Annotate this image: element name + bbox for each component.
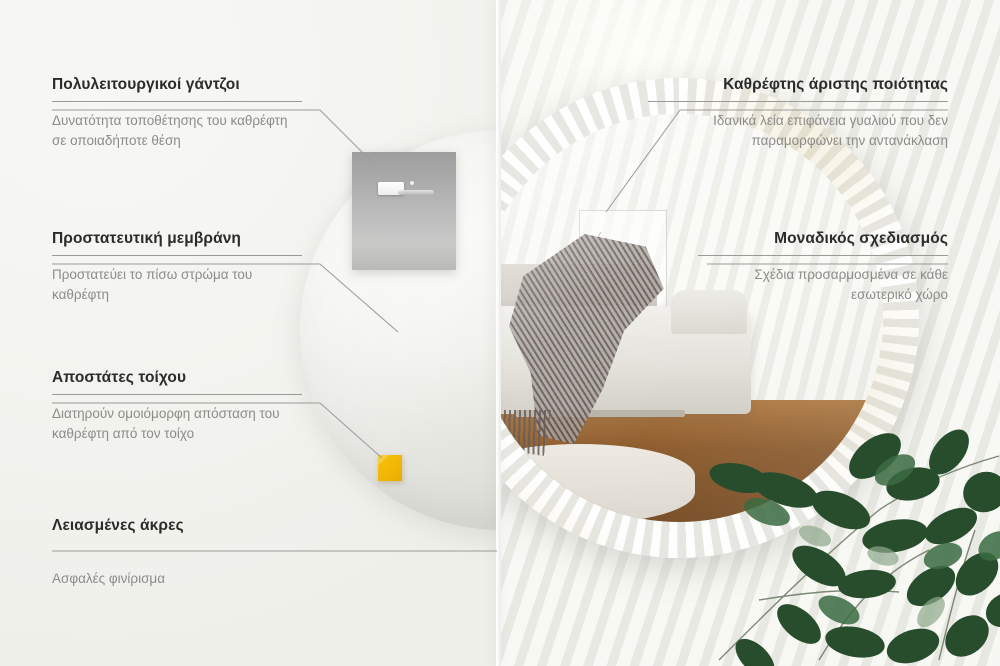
callout-quality-title: Καθρέφτης άριστης ποιότητας xyxy=(648,76,948,94)
callout-quality-rule xyxy=(648,101,948,102)
callout-design: Μοναδικός σχεδιασμός Σχέδια προσαρμοσμέν… xyxy=(698,230,948,305)
callout-membrane-title: Προστατευτική μεμβράνη xyxy=(52,230,302,248)
callout-spacers: Αποστάτες τοίχου Διατηρούν ομοιόμορφη απ… xyxy=(52,369,302,444)
callout-design-rule xyxy=(698,255,948,256)
hook-screw-icon xyxy=(410,181,414,185)
callout-edges-desc: Ασφαλές φινίρισμα xyxy=(52,569,352,589)
callout-hooks: Πολυλειτουργικοί γάντζοι Δυνατότητα τοπο… xyxy=(52,76,302,151)
callout-spacers-title: Αποστάτες τοίχου xyxy=(52,369,302,387)
panel-divider xyxy=(496,0,501,666)
callout-membrane-rule xyxy=(52,255,302,256)
callout-spacers-rule xyxy=(52,394,302,395)
callout-design-desc: Σχέδια προσαρμοσμένα σε κάθε εσωτερικό χ… xyxy=(698,265,948,305)
callout-membrane: Προστατευτική μεμβράνη Προστατεύει το πί… xyxy=(52,230,302,305)
callout-edges-title: Λειασμένες άκρες xyxy=(52,517,352,535)
wall-spacer-chip xyxy=(378,455,402,481)
hook-icon xyxy=(378,178,434,198)
foliage-branch xyxy=(699,360,1000,666)
callout-quality-desc: Ιδανικά λεία επιφάνεια γυαλιού που δεν π… xyxy=(648,111,948,151)
infographic-canvas: Πολυλειτουργικοί γάντζοι Δυνατότητα τοπο… xyxy=(0,0,1000,666)
callout-hooks-rule xyxy=(52,101,302,102)
callout-membrane-desc: Προστατεύει το πίσω στρώμα του καθρέφτη xyxy=(52,265,302,305)
callout-quality: Καθρέφτης άριστης ποιότητας Ιδανικά λεία… xyxy=(648,76,948,151)
callout-hooks-title: Πολυλειτουργικοί γάντζοι xyxy=(52,76,302,94)
callout-design-title: Μοναδικός σχεδιασμός xyxy=(698,230,948,248)
callout-edges: Λειασμένες άκρες Ασφαλές φινίρισμα xyxy=(52,517,352,589)
hook-detail-swatch xyxy=(352,152,456,270)
callout-hooks-desc: Δυνατότητα τοποθέτησης του καθρέφτη σε ο… xyxy=(52,111,302,151)
hook-arm-icon xyxy=(398,190,434,195)
callout-spacers-desc: Διατηρούν ομοιόμορφη απόσταση του καθρέφ… xyxy=(52,404,302,444)
